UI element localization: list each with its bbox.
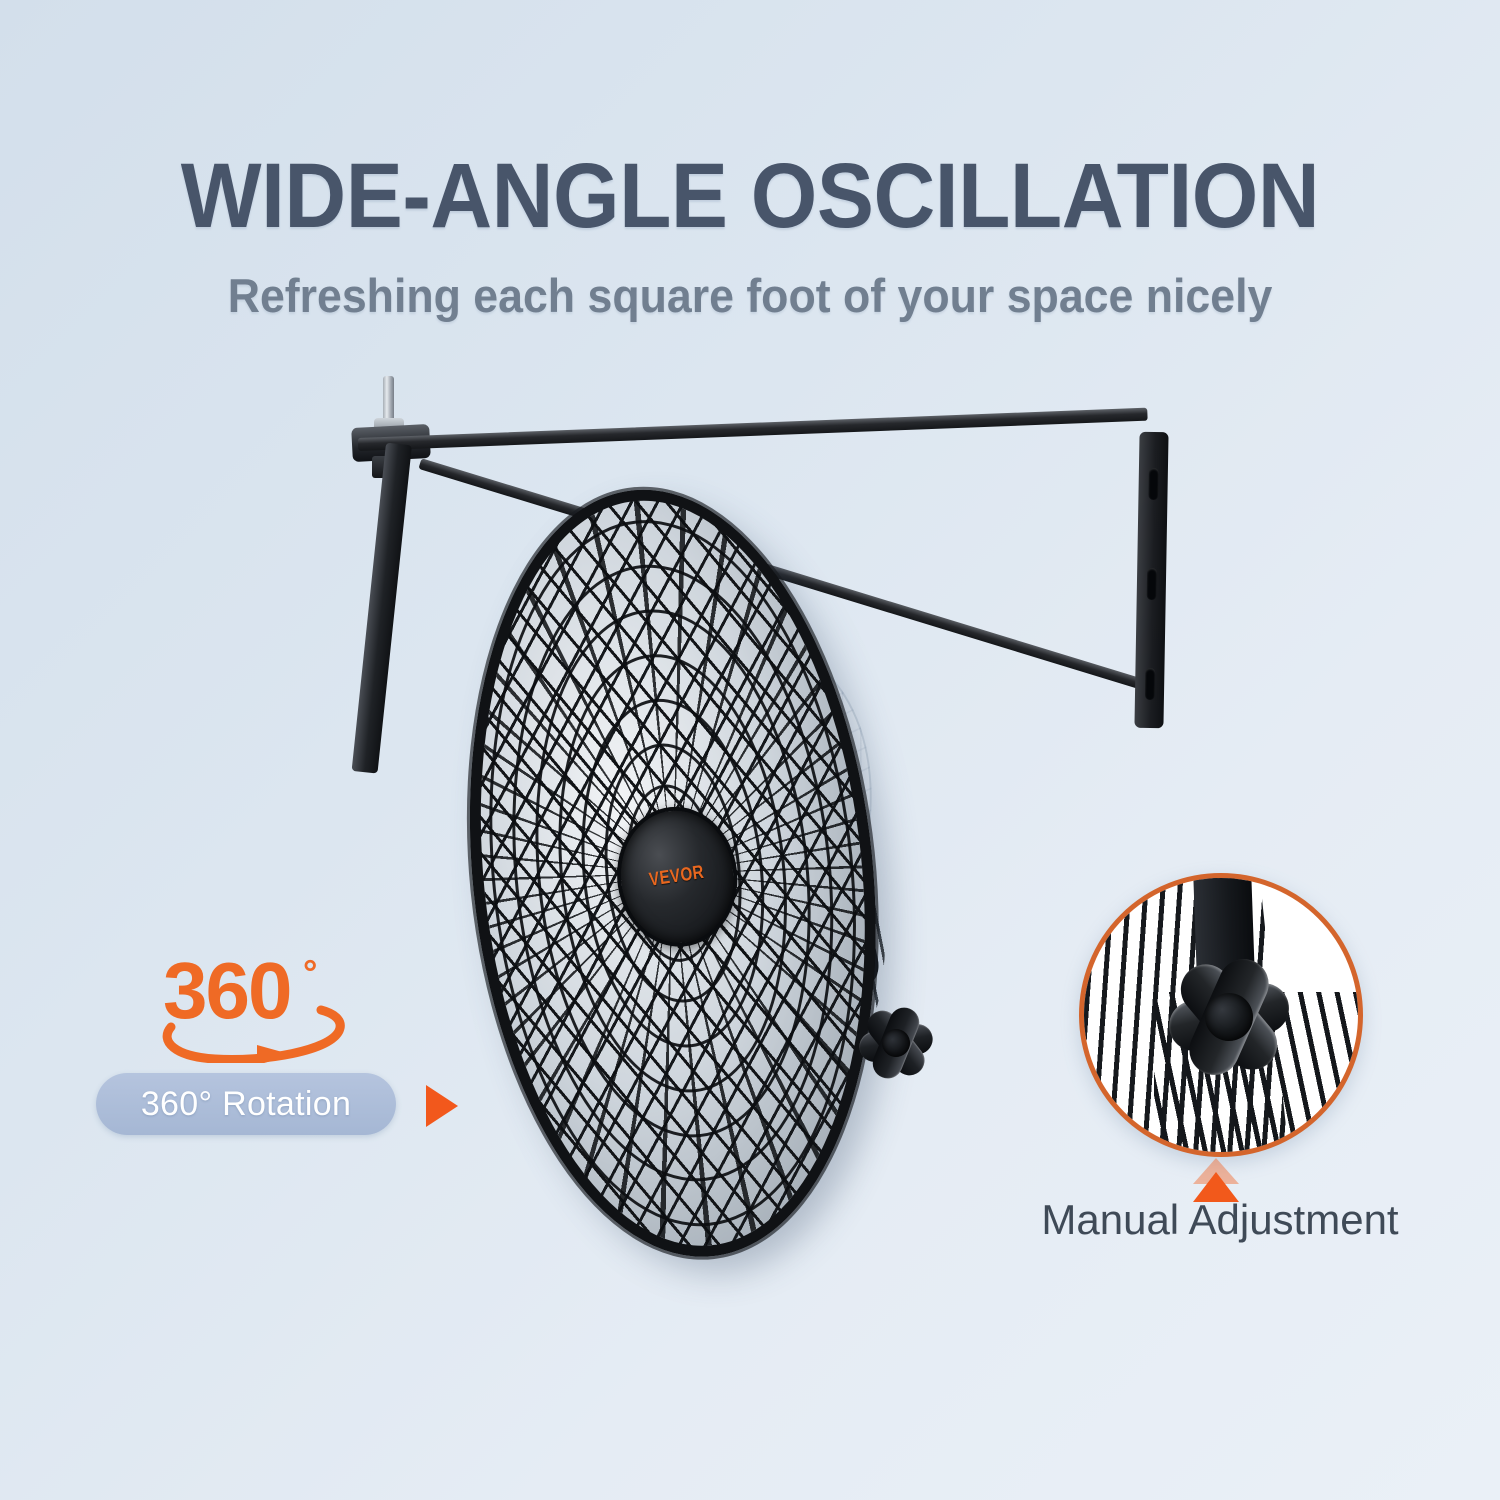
- bracket-wall-plate: [1134, 432, 1168, 728]
- brand-logo: VEVOR: [648, 862, 706, 892]
- page-title: WIDE-ANGLE OSCILLATION: [53, 150, 1448, 242]
- fan-body: VEVOR: [425, 460, 925, 1290]
- bracket-mount-hole: [1148, 468, 1159, 500]
- knob-closeup-inset: [1079, 873, 1363, 1157]
- fan-front-grille: VEVOR: [434, 469, 912, 1277]
- manual-adjustment-label: Manual Adjustment: [1010, 1196, 1430, 1244]
- bracket-mount-hole: [1144, 668, 1155, 700]
- three-lobe-adjustment-knob[interactable]: [846, 993, 946, 1093]
- bracket-vertical-arm: [352, 443, 412, 774]
- 360-degree-rotation-icon: 360 °: [153, 955, 383, 1065]
- bracket-mount-hole: [1146, 568, 1157, 600]
- degree-symbol: °: [303, 955, 317, 991]
- inset-three-lobe-knob: [1153, 941, 1304, 1092]
- rotation-badge: 360 ° 360° Rotation: [108, 955, 528, 1155]
- wall-mount-industrial-fan: VEVOR: [465, 480, 935, 1280]
- rotation-pill-text: 360° Rotation: [141, 1085, 351, 1124]
- marketing-image-canvas: WIDE-ANGLE OSCILLATION Refreshing each s…: [0, 0, 1500, 1500]
- rotation-pill-label: 360° Rotation: [96, 1073, 396, 1135]
- 360-number: 360: [163, 951, 290, 1031]
- bracket-top-arm: [358, 408, 1148, 451]
- orange-triangle-pointer: [426, 1085, 458, 1127]
- page-subtitle: Refreshing each square foot of your spac…: [38, 272, 1463, 319]
